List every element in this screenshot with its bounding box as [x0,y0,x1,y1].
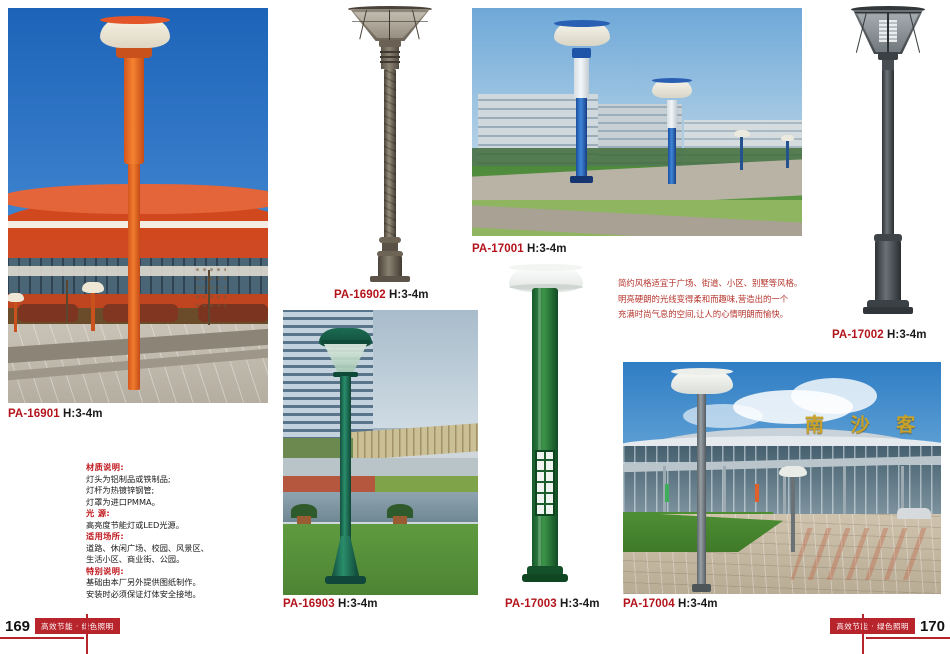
product-render-pa-17002 [825,4,950,319]
product-photo-pa-16903 [283,310,478,595]
product-photo-pa-16901 [8,8,268,403]
footer-rule-right [866,637,950,639]
product-code: PA-17004 [623,598,675,610]
spec-material-line-3: 灯罩为进口PMMA。 [86,497,246,509]
description-line-3: 充满时尚气息的空间,让人的心情明朗而愉快。 [618,307,828,323]
spec-application-line-2: 生活小区、商业街、公园。 [86,554,246,566]
caption-pa-17004: PA-17004 H:3-4m [623,598,718,610]
lamp-base [378,256,402,278]
spec-special-line-1: 基础由本厂另外提供图纸制作。 [86,577,246,589]
product-size: H:3-4m [678,598,718,610]
caption-pa-16903: PA-16903 H:3-4m [283,598,378,610]
product-code: PA-17003 [505,598,557,610]
caption-pa-17003: PA-17003 H:3-4m [505,598,600,610]
product-size: H:3-4m [338,598,378,610]
spec-light-source-heading: 光 源: [86,508,246,520]
lamp-pole [532,288,558,570]
caption-pa-17002: PA-17002 H:3-4m [832,329,927,341]
product-photo-pa-17004: 南 沙 客 [623,362,941,594]
footer-slogan-right: 高效节能 · 绿色照明 [830,618,915,634]
description-line-2: 明亮硬朗的光线变得柔和而趣味,营造出的一个 [618,292,828,308]
spec-special-line-2: 安装时必须保证灯体安全接地。 [86,589,246,601]
product-size: H:3-4m [389,289,429,301]
caption-pa-16901: PA-16901 H:3-4m [8,408,103,420]
spec-application-heading: 适用场所: [86,531,246,543]
product-code: PA-16903 [283,598,335,610]
spec-material-line-1: 灯头为铝制品或铁制品; [86,474,246,486]
spec-special-heading: 特别说明: [86,566,246,578]
product-render-pa-17003 [495,262,595,592]
description-line-1: 简约风格适宜于广场、街道、小区、别墅等风格。 [618,276,828,292]
lamp-base [875,241,901,303]
product-code: PA-16901 [8,408,60,420]
spec-application-line-1: 道路、休闲广场、校园、风景区、 [86,543,246,555]
lamp-pole [697,394,706,590]
caption-pa-17001: PA-17001 H:3-4m [472,243,567,255]
product-photo-pa-17001 [472,8,802,236]
page-spine-left [86,614,88,654]
product-size: H:3-4m [63,408,103,420]
terminal-signage: 南 沙 客 [805,410,925,437]
catalog-page: PA-16901 H:3-4m PA-16902 H:3-4m [0,0,950,654]
product-size: H:3-4m [560,598,600,610]
product-render-pa-16902 [330,4,450,282]
specification-block: 材质说明: 灯头为铝制品或铁制品; 灯杆为热镀锌钢管; 灯罩为进口PMMA。 光… [86,462,246,600]
product-code: PA-16902 [334,289,386,301]
lamp-pole [340,406,351,544]
lamp-pole [882,70,894,236]
page-spine-right [862,614,864,654]
description-paragraph: 简约风格适宜于广场、街道、小区、别墅等风格。 明亮硬朗的光线变得柔和而趣味,营造… [618,276,828,323]
spec-material-line-2: 灯杆为热镀锌钢管; [86,485,246,497]
spec-light-source-line-1: 高亮度节能灯或LED光源。 [86,520,246,532]
product-code: PA-17001 [472,243,524,255]
product-size: H:3-4m [887,329,927,341]
product-code: PA-17002 [832,329,884,341]
footer-right: 高效节能 · 绿色照明 170 [830,616,950,636]
page-number-left: 169 [0,618,35,635]
caption-pa-16902: PA-16902 H:3-4m [334,289,429,301]
page-number-right: 170 [915,618,950,635]
spec-material-heading: 材质说明: [86,462,246,474]
footer-slogan-left: 高效节能 · 绿色照明 [35,618,120,634]
product-size: H:3-4m [527,243,567,255]
footer-rule-left [0,637,84,639]
footer-left: 169 高效节能 · 绿色照明 [0,616,120,636]
lamp-pole [128,160,140,390]
